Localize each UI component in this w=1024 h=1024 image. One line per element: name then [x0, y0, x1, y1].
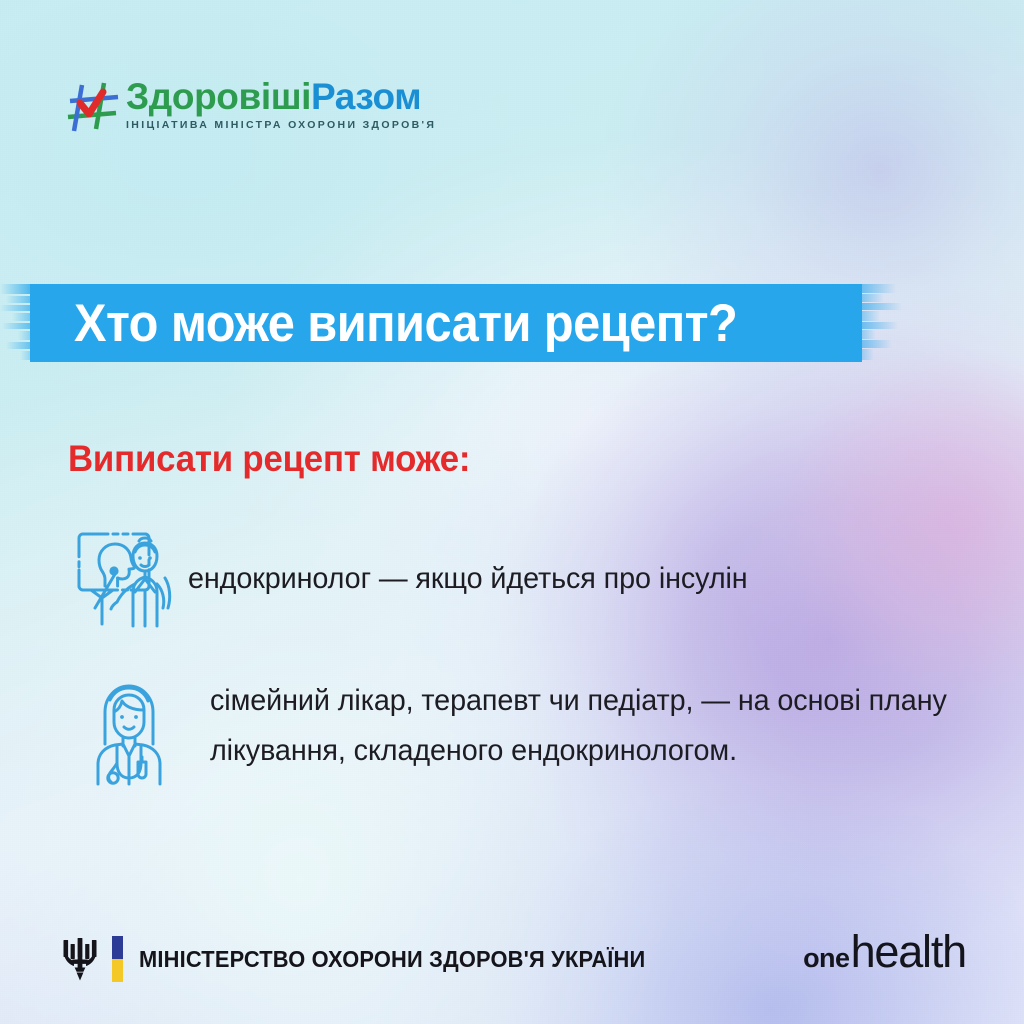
brand-wordmark: ЗдоровішіРазом: [126, 78, 436, 115]
list-item: сімейний лікар, терапевт чи педіатр, — н…: [62, 672, 992, 786]
bullet-text-1: ендокринолог — якщо йдеться про інсулін: [188, 522, 748, 604]
brand-text-block: ЗдоровішіРазом ІНІЦІАТИВА МІНІСТРА ОХОРО…: [126, 78, 436, 131]
subheading: Виписати рецепт може:: [68, 438, 470, 480]
page-title: Хто може виписати рецепт?: [74, 282, 737, 364]
onehealth-logo: one health: [803, 926, 966, 978]
ukraine-flag-bar: [112, 936, 123, 982]
hashtag-check-icon: [66, 81, 122, 133]
onehealth-suffix: health: [851, 926, 966, 978]
list-item: ендокринолог — якщо йдеться про інсулін: [62, 522, 992, 628]
endocrinologist-presentation-icon: [69, 524, 181, 628]
ministry-footer: МІНІСТЕРСТВО ОХОРОНИ ЗДОРОВ'Я УКРАЇНИ: [62, 936, 672, 982]
poster-canvas: ЗдоровішіРазом ІНІЦІАТИВА МІНІСТРА ОХОРО…: [0, 0, 1024, 1024]
bullet-icon-wrap-1: [62, 522, 188, 628]
ukraine-trident-emblem: [62, 936, 98, 982]
bullet-list: ендокринолог — якщо йдеться про інсулін: [62, 522, 992, 786]
brand-word-green: Здоровіші: [126, 76, 311, 117]
brand-tagline: ІНІЦІАТИВА МІНІСТРА ОХОРОНИ ЗДОРОВ'Я: [126, 119, 436, 131]
brand-word-blue: Разом: [311, 76, 421, 117]
ministry-label: МІНІСТЕРСТВО ОХОРОНИ ЗДОРОВ'Я УКРАЇНИ: [139, 946, 645, 973]
onehealth-prefix: one: [803, 943, 850, 974]
title-banner: Хто може виписати рецепт?: [0, 282, 912, 364]
brand-logo: ЗдоровішіРазом ІНІЦІАТИВА МІНІСТРА ОХОРО…: [66, 78, 436, 133]
bullet-text-2: сімейний лікар, терапевт чи педіатр, — н…: [210, 672, 972, 776]
female-doctor-stethoscope-icon: [84, 674, 174, 786]
bullet-icon-wrap-2: [62, 672, 210, 786]
poster-content: ЗдоровішіРазом ІНІЦІАТИВА МІНІСТРА ОХОРО…: [0, 0, 1024, 1024]
